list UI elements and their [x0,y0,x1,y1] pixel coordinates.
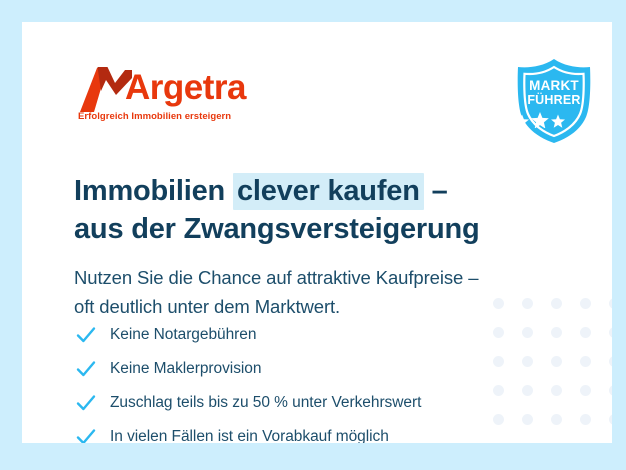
decorative-dot [609,327,612,338]
decorative-dot [580,327,591,338]
subheading: Nutzen Sie die Chance auf attraktive Kau… [74,263,574,321]
shield-icon [512,57,596,145]
decorative-dot [609,356,612,367]
logo-lockup: Argetra [77,64,267,112]
check-icon [75,392,97,414]
list-item: In vielen Fällen ist ein Vorabkauf mögli… [75,422,535,443]
page-title: Immobilien clever kaufen – aus der Zwang… [74,172,544,248]
decorative-dot [551,414,562,425]
decorative-dot [609,298,612,309]
list-item: Zuschlag teils bis zu 50 % unter Verkehr… [75,388,535,418]
list-item: Keine Maklerprovision [75,354,535,384]
check-icon [75,324,97,346]
decorative-dot [609,385,612,396]
banner-stage: Argetra Erfolgreich Immobilien ersteiger… [0,0,626,470]
banner-card: Argetra Erfolgreich Immobilien ersteiger… [22,22,612,443]
argetra-logo[interactable]: Argetra Erfolgreich Immobilien ersteiger… [77,64,267,130]
market-leader-badge: MARKT FÜHRER [512,57,596,145]
subheading-line-2: oft deutlich unter dem Marktwert. [74,292,574,321]
headline-line-2: aus der Zwangsversteigerung [74,210,544,248]
benefits-list: Keine NotargebührenKeine Maklerprovision… [75,320,535,443]
decorative-dot [580,298,591,309]
list-item-label: In vielen Fällen ist ein Vorabkauf mögli… [110,427,389,443]
decorative-dot [551,327,562,338]
logo-wordmark: Argetra [125,66,246,110]
headline-highlight: clever kaufen [233,173,424,210]
subheading-line-1: Nutzen Sie die Chance auf attraktive Kau… [74,263,574,292]
decorative-dot [580,414,591,425]
decorative-dot [551,385,562,396]
decorative-dot [609,414,612,425]
list-item: Keine Notargebühren [75,320,535,350]
decorative-dot [580,356,591,367]
headline-text-before: Immobilien [74,175,233,207]
check-icon [75,358,97,380]
list-item-label: Keine Maklerprovision [110,359,261,379]
check-icon [75,426,97,443]
list-item-label: Zuschlag teils bis zu 50 % unter Verkehr… [110,393,421,413]
logo-tagline: Erfolgreich Immobilien ersteigern [78,111,231,122]
decorative-dot [551,356,562,367]
headline-line-1: Immobilien clever kaufen – [74,172,544,210]
headline-text-after: – [424,175,448,207]
list-item-label: Keine Notargebühren [110,325,256,345]
decorative-dot [580,385,591,396]
